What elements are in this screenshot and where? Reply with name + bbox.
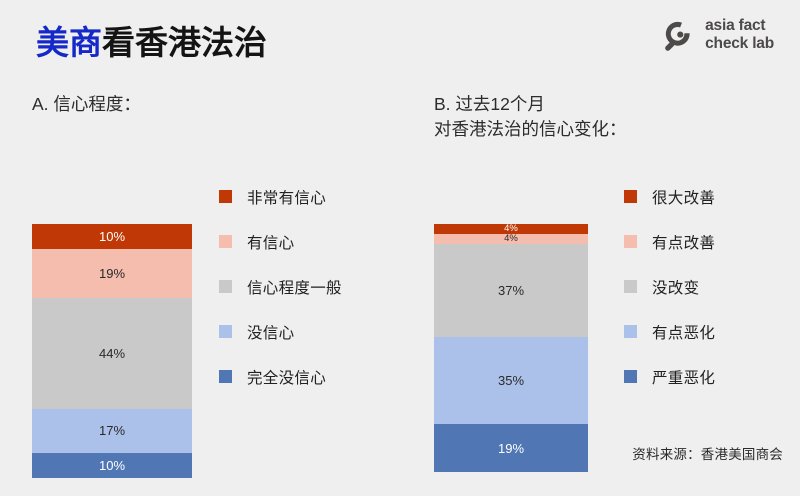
bar-segment-value: 19%: [99, 267, 125, 280]
legend-item-label: 有点改善: [652, 231, 715, 253]
bar-segment-value: 10%: [99, 459, 125, 472]
legend-swatch-icon: [624, 235, 637, 248]
chart-a-stacked-bar: 10%19%44%17%10%: [32, 224, 192, 478]
legend-item-label: 有点恶化: [652, 321, 715, 343]
bar-segment: 10%: [32, 224, 192, 249]
legend-item-label: 没改变: [652, 276, 699, 298]
legend-item: 信心程度一般: [219, 264, 342, 309]
bar-segment: 10%: [32, 453, 192, 478]
legend-item: 完全没信心: [219, 354, 342, 399]
legend-swatch-icon: [219, 325, 232, 338]
legend-swatch-icon: [624, 370, 637, 383]
legend-item: 有信心: [219, 219, 342, 264]
chart-b-stacked-bar: 4%4%37%35%19%: [434, 224, 588, 472]
infographic-root: 美商看香港法治 asia fact check lab A. 信心程度： 10%…: [0, 0, 800, 496]
legend-item-label: 严重恶化: [652, 366, 715, 388]
legend-swatch-icon: [624, 280, 637, 293]
bar-segment: 17%: [32, 409, 192, 452]
bar-segment-value: 19%: [498, 442, 524, 455]
legend-item-label: 有信心: [247, 231, 294, 253]
legend-swatch-icon: [219, 280, 232, 293]
legend-swatch-icon: [219, 235, 232, 248]
bar-segment: 44%: [32, 298, 192, 410]
panel-b-heading: B. 过去12个月 对香港法治的信心变化：: [434, 92, 627, 143]
legend-item: 没信心: [219, 309, 342, 354]
legend-swatch-icon: [624, 325, 637, 338]
bar-segment-value: 35%: [498, 374, 524, 387]
bar-segment: 35%: [434, 337, 588, 425]
panel-a: A. 信心程度： 10%19%44%17%10% 非常有信心有信心信心程度一般没…: [0, 0, 410, 496]
legend-item: 非常有信心: [219, 174, 342, 219]
legend-item: 有点改善: [624, 219, 715, 264]
chart-a-legend: 非常有信心有信心信心程度一般没信心完全没信心: [219, 174, 342, 399]
legend-swatch-icon: [219, 370, 232, 383]
legend-item-label: 信心程度一般: [247, 276, 342, 298]
legend-item-label: 没信心: [247, 321, 294, 343]
legend-swatch-icon: [219, 190, 232, 203]
legend-swatch-icon: [624, 190, 637, 203]
bar-segment-value: 37%: [498, 284, 524, 297]
legend-item: 很大改善: [624, 174, 715, 219]
legend-item: 严重恶化: [624, 354, 715, 399]
bar-segment: 4%: [434, 234, 588, 244]
bar-segment-value: 4%: [504, 234, 518, 244]
bar-segment-value: 10%: [99, 230, 125, 243]
panel-b: B. 过去12个月 对香港法治的信心变化： 4%4%37%35%19% 很大改善…: [410, 0, 800, 496]
legend-item: 没改变: [624, 264, 715, 309]
bar-segment: 19%: [434, 424, 588, 472]
legend-item-label: 非常有信心: [247, 186, 326, 208]
bar-segment-value: 44%: [99, 347, 125, 360]
legend-item: 有点恶化: [624, 309, 715, 354]
bar-segment: 19%: [32, 249, 192, 297]
bar-segment-value: 17%: [99, 424, 125, 437]
source-note: 资料来源：香港美国商会: [632, 443, 783, 463]
legend-item-label: 完全没信心: [247, 366, 326, 388]
legend-item-label: 很大改善: [652, 186, 715, 208]
bar-segment: 37%: [434, 244, 588, 337]
panel-a-heading: A. 信心程度：: [32, 92, 141, 117]
chart-b-legend: 很大改善有点改善没改变有点恶化严重恶化: [624, 174, 715, 399]
